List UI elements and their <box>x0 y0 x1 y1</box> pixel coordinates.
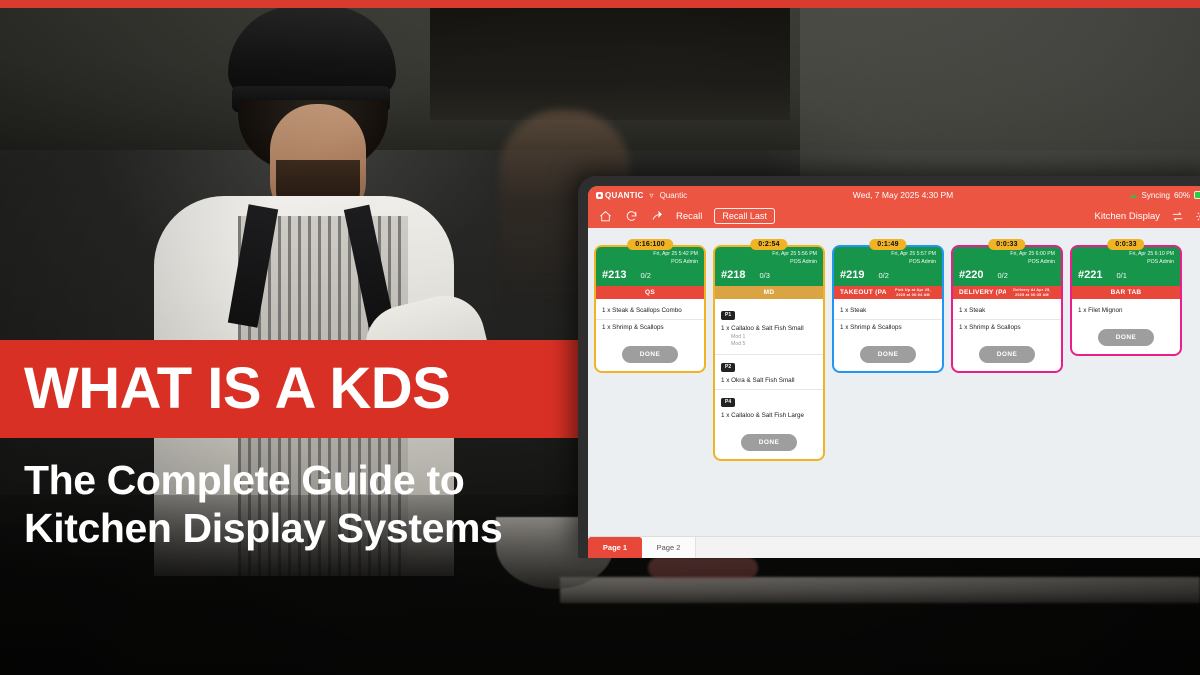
order-item-text: 1 x Shrimp & Scallops <box>840 324 936 331</box>
order-item-text: 1 x Filet Mignon <box>1078 307 1174 314</box>
home-icon[interactable] <box>598 209 612 223</box>
order-time: Fri, Apr 25 6:00 PM <box>959 251 1055 259</box>
seat-tag-wrap: P2 <box>715 355 823 373</box>
seat-tag-wrap: P1 <box>715 303 823 321</box>
order-item-text: 1 x Callaloo & Salt Fish Small <box>721 325 817 332</box>
order-user: POS Admin <box>840 259 936 267</box>
recall-label[interactable]: Recall <box>676 211 702 222</box>
seat-tag: P2 <box>721 363 735 372</box>
page-title: WHAT IS A KDS <box>0 360 450 418</box>
order-timer-badge: 0:0:33 <box>1107 239 1144 250</box>
order-meta: Fri, Apr 25 5:42 PMPOS Admin <box>602 251 698 267</box>
order-card-header: Fri, Apr 25 5:42 PMPOS Admin#2130/2 <box>596 247 704 286</box>
kds-screen: QUANTIC ▿ Quantic Wed, 7 May 2025 4:30 P… <box>588 186 1200 558</box>
order-item-row[interactable]: 1 x Steak & Scallops Combo <box>596 303 704 320</box>
order-type-band: BAR TAB <box>1072 286 1180 299</box>
order-item-count: 0/2 <box>997 271 1007 280</box>
order-item-row[interactable]: 1 x Steak <box>953 303 1061 320</box>
order-time: Fri, Apr 25 5:56 PM <box>721 251 817 259</box>
order-done-button[interactable]: DONE <box>741 434 797 451</box>
order-meta: Fri, Apr 25 5:57 PMPOS Admin <box>840 251 936 267</box>
order-type-band: TAKEOUT (PAID)Pick Up at Apr 25, 2025 at… <box>834 286 942 299</box>
order-user: POS Admin <box>602 259 698 267</box>
order-meta: Fri, Apr 25 5:56 PMPOS Admin <box>721 251 817 267</box>
kitchen-display-label[interactable]: Kitchen Display <box>1095 211 1160 222</box>
order-item-text: 1 x Callaloo & Salt Fish Large <box>721 412 817 419</box>
cloud-sync-icon: ☁ <box>1129 191 1138 200</box>
hero-subtitle: The Complete Guide to Kitchen Display Sy… <box>24 456 604 553</box>
order-item-row[interactable]: 1 x Shrimp & Scallops <box>596 320 704 336</box>
order-items-list: 1 x Steak1 x Shrimp & Scallops <box>834 299 942 336</box>
battery-icon <box>1194 191 1200 199</box>
order-item-text: 1 x Okra & Salt Fish Small <box>721 377 817 384</box>
order-item-modifier: Mod 5 <box>731 341 817 349</box>
order-number: #218 <box>721 269 745 281</box>
order-item-text: 1 x Shrimp & Scallops <box>602 324 698 331</box>
order-meta: Fri, Apr 25 6:00 PMPOS Admin <box>959 251 1055 267</box>
order-time: Fri, Apr 25 6:10 PM <box>1078 251 1174 259</box>
recall-last-button[interactable]: Recall Last <box>714 208 775 224</box>
order-done-button[interactable]: DONE <box>622 346 678 363</box>
order-timer-badge: 0:1:49 <box>869 239 906 250</box>
order-items-list: 1 x Steak & Scallops Combo1 x Shrimp & S… <box>596 299 704 336</box>
order-card[interactable]: 0:0:33Fri, Apr 25 6:10 PMPOS Admin#2210/… <box>1070 245 1182 356</box>
order-item-text: 1 x Steak & Scallops Combo <box>602 307 698 314</box>
order-item-modifier: Mod 1 <box>731 334 817 342</box>
seat-tag: P4 <box>721 398 735 407</box>
order-user: POS Admin <box>721 259 817 267</box>
order-done-wrap: DONE <box>1072 319 1180 354</box>
battery-percent-label: 60% <box>1174 191 1190 200</box>
order-number: #213 <box>602 269 626 281</box>
order-item-count: 0/1 <box>1116 271 1126 280</box>
top-accent-rule <box>0 0 1200 8</box>
order-card[interactable]: 0:1:49Fri, Apr 25 5:57 PMPOS Admin#2190/… <box>832 245 944 373</box>
sync-status-label: Syncing <box>1142 191 1170 200</box>
order-card-header: Fri, Apr 25 5:56 PMPOS Admin#2180/3 <box>715 247 823 286</box>
order-done-button[interactable]: DONE <box>1098 329 1154 346</box>
order-item-modifiers: Mod 1Mod 5 <box>721 334 817 350</box>
order-meta: Fri, Apr 25 6:10 PMPOS Admin <box>1078 251 1174 267</box>
order-user: POS Admin <box>959 259 1055 267</box>
order-timer-badge: 0:2:54 <box>750 239 787 250</box>
order-time: Fri, Apr 25 5:57 PM <box>840 251 936 259</box>
seat-tag: P1 <box>721 311 735 320</box>
order-card-header: Fri, Apr 25 6:00 PMPOS Admin#2200/2 <box>953 247 1061 286</box>
order-item-row[interactable]: 1 x Okra & Salt Fish Small <box>715 373 823 390</box>
order-schedule-note: Delivery At Apr 25, 2025 at 06:35 AM <box>1006 287 1058 298</box>
order-item-text: 1 x Shrimp & Scallops <box>959 324 1055 331</box>
page-tab[interactable]: Page 2 <box>642 537 696 558</box>
order-type-band: DELIVERY (PAID)Delivery At Apr 25, 2025 … <box>953 286 1061 299</box>
seat-tag-wrap: P4 <box>715 390 823 408</box>
order-card[interactable]: 0:16:100Fri, Apr 25 5:42 PMPOS Admin#213… <box>594 245 706 373</box>
page-tab-bar: Page 1Page 2 <box>588 536 1200 558</box>
order-number: #220 <box>959 269 983 281</box>
order-board: 0:16:100Fri, Apr 25 5:42 PMPOS Admin#213… <box>588 228 1200 536</box>
order-item-row[interactable]: 1 x Filet Mignon <box>1072 303 1180 319</box>
order-items-list: P11 x Callaloo & Salt Fish SmallMod 1Mod… <box>715 299 823 424</box>
order-item-row[interactable]: 1 x Steak <box>834 303 942 320</box>
order-item-count: 0/2 <box>640 271 650 280</box>
order-done-wrap: DONE <box>953 336 1061 371</box>
refresh-icon[interactable] <box>624 209 638 223</box>
order-item-row[interactable]: 1 x Shrimp & Scallops <box>834 320 942 336</box>
order-done-button[interactable]: DONE <box>860 346 916 363</box>
order-type-band: QS <box>596 286 704 299</box>
hero-title-band: WHAT IS A KDS <box>0 340 580 438</box>
order-done-wrap: DONE <box>834 336 942 371</box>
order-item-text: 1 x Steak <box>959 307 1055 314</box>
order-item-row[interactable]: 1 x Callaloo & Salt Fish SmallMod 1Mod 5 <box>715 321 823 355</box>
order-item-row[interactable]: 1 x Shrimp & Scallops <box>953 320 1061 336</box>
gear-icon[interactable] <box>1194 209 1200 223</box>
order-user: POS Admin <box>1078 259 1174 267</box>
order-timer-badge: 0:0:33 <box>988 239 1025 250</box>
order-timer-badge: 0:16:100 <box>627 239 673 250</box>
network-name: Quantic <box>660 191 688 200</box>
order-type-label: MD <box>764 289 775 296</box>
order-items-list: 1 x Filet Mignon <box>1072 299 1180 319</box>
order-item-count: 0/3 <box>759 271 769 280</box>
order-item-count: 0/2 <box>878 271 888 280</box>
forward-arrow-icon[interactable] <box>650 209 664 223</box>
order-done-wrap: DONE <box>596 336 704 371</box>
order-type-label: BAR TAB <box>1111 289 1142 296</box>
order-number: #219 <box>840 269 864 281</box>
order-card-header: Fri, Apr 25 5:57 PMPOS Admin#2190/2 <box>834 247 942 286</box>
order-done-button[interactable]: DONE <box>979 346 1035 363</box>
wifi-icon: ▿ <box>650 191 654 200</box>
kds-status-bar: QUANTIC ▿ Quantic Wed, 7 May 2025 4:30 P… <box>588 186 1200 204</box>
order-card[interactable]: 0:0:33Fri, Apr 25 6:00 PMPOS Admin#2200/… <box>951 245 1063 373</box>
order-item-row[interactable]: 1 x Callaloo & Salt Fish Large <box>715 408 823 424</box>
order-done-wrap: DONE <box>715 424 823 459</box>
order-type-band: MD <box>715 286 823 299</box>
page-tab[interactable]: Page 1 <box>588 537 642 558</box>
order-item-text: 1 x Steak <box>840 307 936 314</box>
tablet-device-frame: QUANTIC ▿ Quantic Wed, 7 May 2025 4:30 P… <box>578 176 1200 558</box>
order-type-label: QS <box>645 289 655 296</box>
order-time: Fri, Apr 25 5:42 PM <box>602 251 698 259</box>
order-card[interactable]: 0:2:54Fri, Apr 25 5:56 PMPOS Admin#2180/… <box>713 245 825 461</box>
swap-icon[interactable] <box>1170 209 1184 223</box>
quantic-logo: QUANTIC <box>596 191 644 200</box>
brand-name: QUANTIC <box>605 191 644 200</box>
order-number: #221 <box>1078 269 1102 281</box>
kds-toolbar: Recall Recall Last Kitchen Display <box>588 204 1200 228</box>
order-schedule-note: Pick Up at Apr 25, 2025 at 06:04 AM <box>887 287 939 298</box>
order-card-header: Fri, Apr 25 6:10 PMPOS Admin#2210/1 <box>1072 247 1180 286</box>
logo-mark-icon <box>596 192 603 199</box>
order-items-list: 1 x Steak1 x Shrimp & Scallops <box>953 299 1061 336</box>
